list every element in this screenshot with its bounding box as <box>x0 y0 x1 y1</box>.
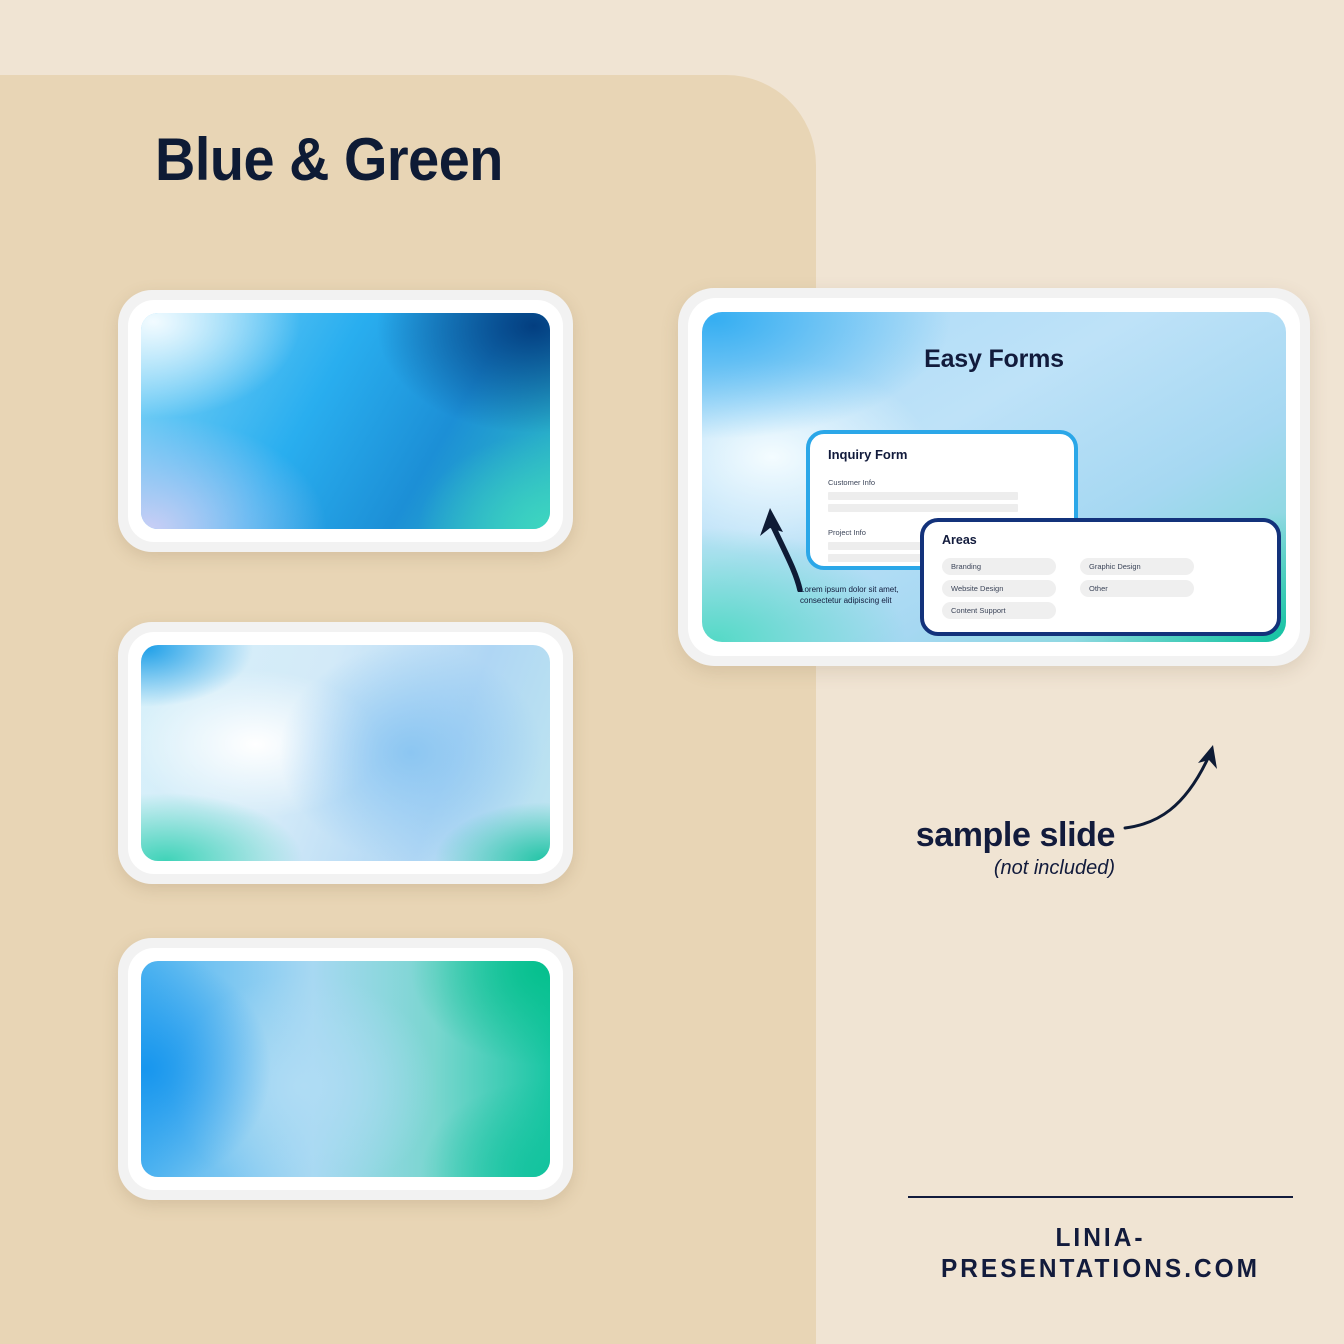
gradient-thumbnail-1[interactable] <box>118 290 573 552</box>
area-option-other[interactable]: Other <box>1080 580 1194 597</box>
annotation-curved-arrow-icon <box>1123 742 1233 852</box>
thumbnail-gradient-surface <box>141 961 550 1177</box>
slide-caption: Lorem ipsum dolor sit amet, consectetur … <box>800 584 920 607</box>
form-field-placeholder[interactable] <box>828 504 1018 512</box>
areas-right-column: Graphic Design Other <box>1080 558 1194 619</box>
form-field-placeholder[interactable] <box>828 492 1018 500</box>
gradient-fill-2 <box>141 645 550 861</box>
annotation-main-label: sample slide <box>830 818 1115 854</box>
area-option-branding[interactable]: Branding <box>942 558 1056 575</box>
sample-slide[interactable]: Easy Forms Inquiry Form Customer Info Pr… <box>678 288 1310 666</box>
footer-divider <box>908 1196 1293 1198</box>
page-title: Blue & Green <box>155 125 503 194</box>
customer-info-label: Customer Info <box>828 478 1056 487</box>
slide-curved-arrow-icon <box>756 502 804 592</box>
areas-columns: Branding Website Design Content Support … <box>942 558 1259 619</box>
gradient-thumbnail-3[interactable] <box>118 938 573 1200</box>
area-option-content-support[interactable]: Content Support <box>942 602 1056 619</box>
inquiry-form-title: Inquiry Form <box>828 447 1056 462</box>
thumbnail-gradient-surface <box>141 645 550 861</box>
sample-slide-annotation: sample slide (not included) <box>830 818 1115 880</box>
area-option-website-design[interactable]: Website Design <box>942 580 1056 597</box>
area-option-graphic-design[interactable]: Graphic Design <box>1080 558 1194 575</box>
sample-slide-canvas: Easy Forms Inquiry Form Customer Info Pr… <box>702 312 1286 642</box>
gradient-thumbnail-2[interactable] <box>118 622 573 884</box>
areas-card-title: Areas <box>942 533 1259 547</box>
footer-url[interactable]: LINIA-PRESENTATIONS.COM <box>920 1222 1282 1284</box>
gradient-fill-3 <box>141 961 550 1177</box>
areas-card[interactable]: Areas Branding Website Design Content Su… <box>920 518 1281 636</box>
areas-left-column: Branding Website Design Content Support <box>942 558 1056 619</box>
slide-title: Easy Forms <box>702 345 1286 374</box>
annotation-sub-label: (not included) <box>830 857 1115 880</box>
thumbnail-gradient-surface <box>141 313 550 529</box>
gradient-fill-1 <box>141 313 550 529</box>
